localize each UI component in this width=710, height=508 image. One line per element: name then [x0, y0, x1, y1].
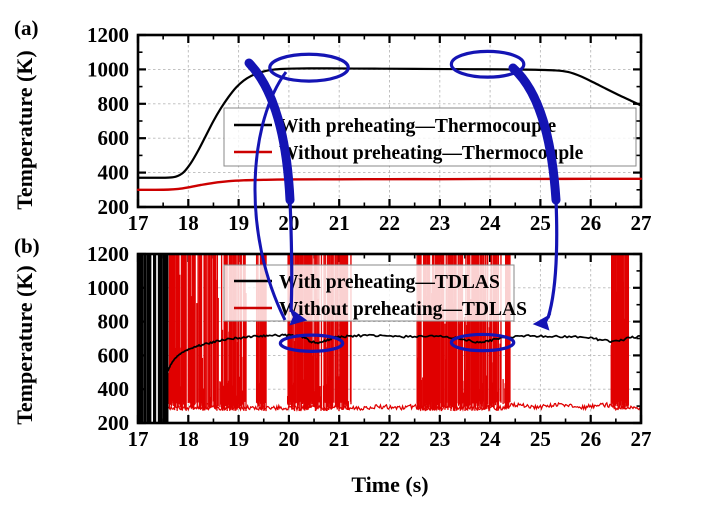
panel-a-x-tick-labels: 1718192021222324252627 — [128, 211, 652, 235]
panel-b-legend-label-1: Without preheating—TDLAS — [279, 299, 527, 320]
x-tick-label: 25 — [530, 427, 551, 451]
panel-a-tag: (a) — [14, 16, 39, 40]
x-tick-label: 19 — [228, 211, 249, 235]
x-tick-label: 27 — [631, 211, 652, 235]
panel-b-legend-label-0: With preheating—TDLAS — [279, 272, 500, 293]
y-tick-label: 400 — [98, 377, 130, 401]
x-tick-label: 17 — [128, 211, 149, 235]
x-tick-label: 20 — [278, 427, 299, 451]
panel-b-legend: With preheating—TDLAS Without preheating… — [224, 265, 527, 321]
x-tick-label: 24 — [480, 427, 502, 451]
callout-right-arrowhead — [535, 316, 549, 329]
figure-root: (a) Temperature (K) 20040060080010001200… — [0, 0, 710, 508]
x-tick-label: 21 — [329, 211, 350, 235]
x-tick-label: 17 — [128, 427, 149, 451]
panel-a-legend-label-1: Without preheating—Thermocouple — [279, 143, 584, 164]
x-tick-label: 18 — [178, 427, 199, 451]
x-tick-label: 26 — [580, 427, 601, 451]
panel-b-x-tick-labels: 1718192021222324252627 — [128, 427, 652, 451]
panel-a-legend-label-0: With preheating—Thermocouple — [279, 116, 557, 137]
x-tick-label: 25 — [530, 211, 551, 235]
x-tick-label: 18 — [178, 211, 199, 235]
x-tick-label: 26 — [580, 211, 601, 235]
y-tick-label: 800 — [98, 310, 130, 334]
x-tick-label: 22 — [379, 211, 400, 235]
panel-a-annotation-ellipses — [270, 51, 524, 81]
panel-b-series-with-preheating-spikes — [141, 255, 166, 422]
y-tick-label: 400 — [98, 161, 130, 185]
temperature-comparison-figure: (a) Temperature (K) 20040060080010001200… — [0, 0, 710, 508]
panel-b-x-axis-title: Time (s) — [351, 472, 428, 497]
y-tick-label: 1000 — [87, 57, 129, 81]
x-tick-label: 22 — [379, 427, 400, 451]
callout-left-tail — [290, 200, 292, 312]
y-tick-label: 600 — [98, 343, 130, 367]
x-tick-label: 20 — [278, 211, 299, 235]
panel-a-y-axis-title: Temperature (K) — [12, 50, 37, 209]
y-tick-label: 1200 — [87, 23, 129, 47]
x-tick-label: 24 — [480, 211, 502, 235]
x-tick-label: 23 — [429, 427, 450, 451]
y-tick-label: 600 — [98, 126, 130, 150]
y-tick-label: 200 — [98, 411, 130, 435]
x-tick-label: 21 — [329, 427, 350, 451]
y-tick-label: 1200 — [87, 242, 129, 266]
panel-b-y-tick-labels: 20040060080010001200 — [87, 242, 129, 435]
y-tick-label: 1000 — [87, 276, 129, 300]
panel-b-tag: (b) — [14, 234, 40, 258]
x-tick-label: 19 — [228, 427, 249, 451]
panel-a-y-tick-labels: 20040060080010001200 — [87, 23, 129, 219]
y-tick-label: 800 — [98, 92, 130, 116]
panel-b-y-axis-title: Temperature (K) — [12, 265, 37, 424]
x-tick-label: 23 — [429, 211, 450, 235]
y-tick-label: 200 — [98, 195, 130, 219]
x-tick-label: 27 — [631, 427, 652, 451]
